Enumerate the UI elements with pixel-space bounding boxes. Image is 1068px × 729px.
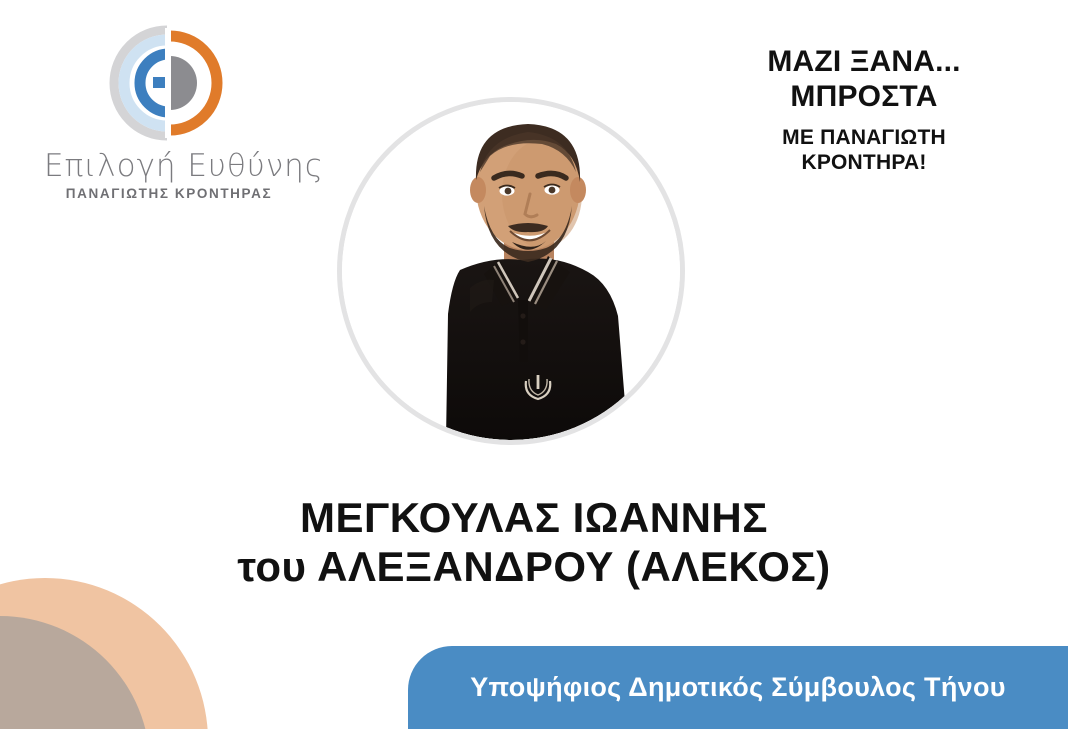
slogan-sub-line-1: ΜΕ ΠΑΝΑΓΙΩΤΗ: [714, 125, 1014, 151]
epilogi-efthynis-circle-logo-icon: [89, 22, 249, 144]
candidate-name-line-2: του ΑΛΕΞΑΝΔΡΟΥ (ΑΛΕΚΟΣ): [0, 543, 1068, 592]
candidate-name: ΜΕΓΚΟΥΛΑΣ ΙΩΑΝΝΗΣ του ΑΛΕΞΑΝΔΡΟΥ (ΑΛΕΚΟΣ…: [0, 494, 1068, 591]
candidate-photo: [342, 102, 680, 440]
candidate-portrait: [316, 76, 706, 466]
role-banner: Υποψήφιος Δημοτικός Σύμβουλος Τήνου: [408, 646, 1068, 729]
candidate-name-line-1: ΜΕΓΚΟΥΛΑΣ ΙΩΑΝΝΗΣ: [0, 494, 1068, 543]
campaign-poster: Επιλογή Ευθύνης ΠΑΝΑΓΙΩΤΗΣ ΚΡΟΝΤΗΡΑΣ ΜΑΖ…: [0, 0, 1068, 729]
slogan-sub-line-2: ΚΡΟΝΤΗΡΑ!: [714, 150, 1014, 176]
campaign-slogan: ΜΑΖΙ ΞΑΝΑ... ΜΠΡΟΣΤΑ ΜΕ ΠΑΝΑΓΙΩΤΗ ΚΡΟΝΤΗ…: [714, 44, 1014, 176]
portrait-border-ring: [337, 97, 685, 445]
role-banner-text: Υποψήφιος Δημοτικός Σύμβουλος Τήνου: [470, 672, 1006, 703]
party-logo: Επιλογή Ευθύνης ΠΑΝΑΓΙΩΤΗΣ ΚΡΟΝΤΗΡΑΣ: [44, 22, 294, 201]
slogan-main-line-2: ΜΠΡΟΣΤΑ: [714, 79, 1014, 114]
slogan-main-line-1: ΜΑΖΙ ΞΑΝΑ...: [714, 44, 1014, 79]
logo-subwordmark: ΠΑΝΑΓΙΩΤΗΣ ΚΡΟΝΤΗΡΑΣ: [44, 186, 294, 201]
logo-wordmark: Επιλογή Ευθύνης: [44, 150, 294, 183]
